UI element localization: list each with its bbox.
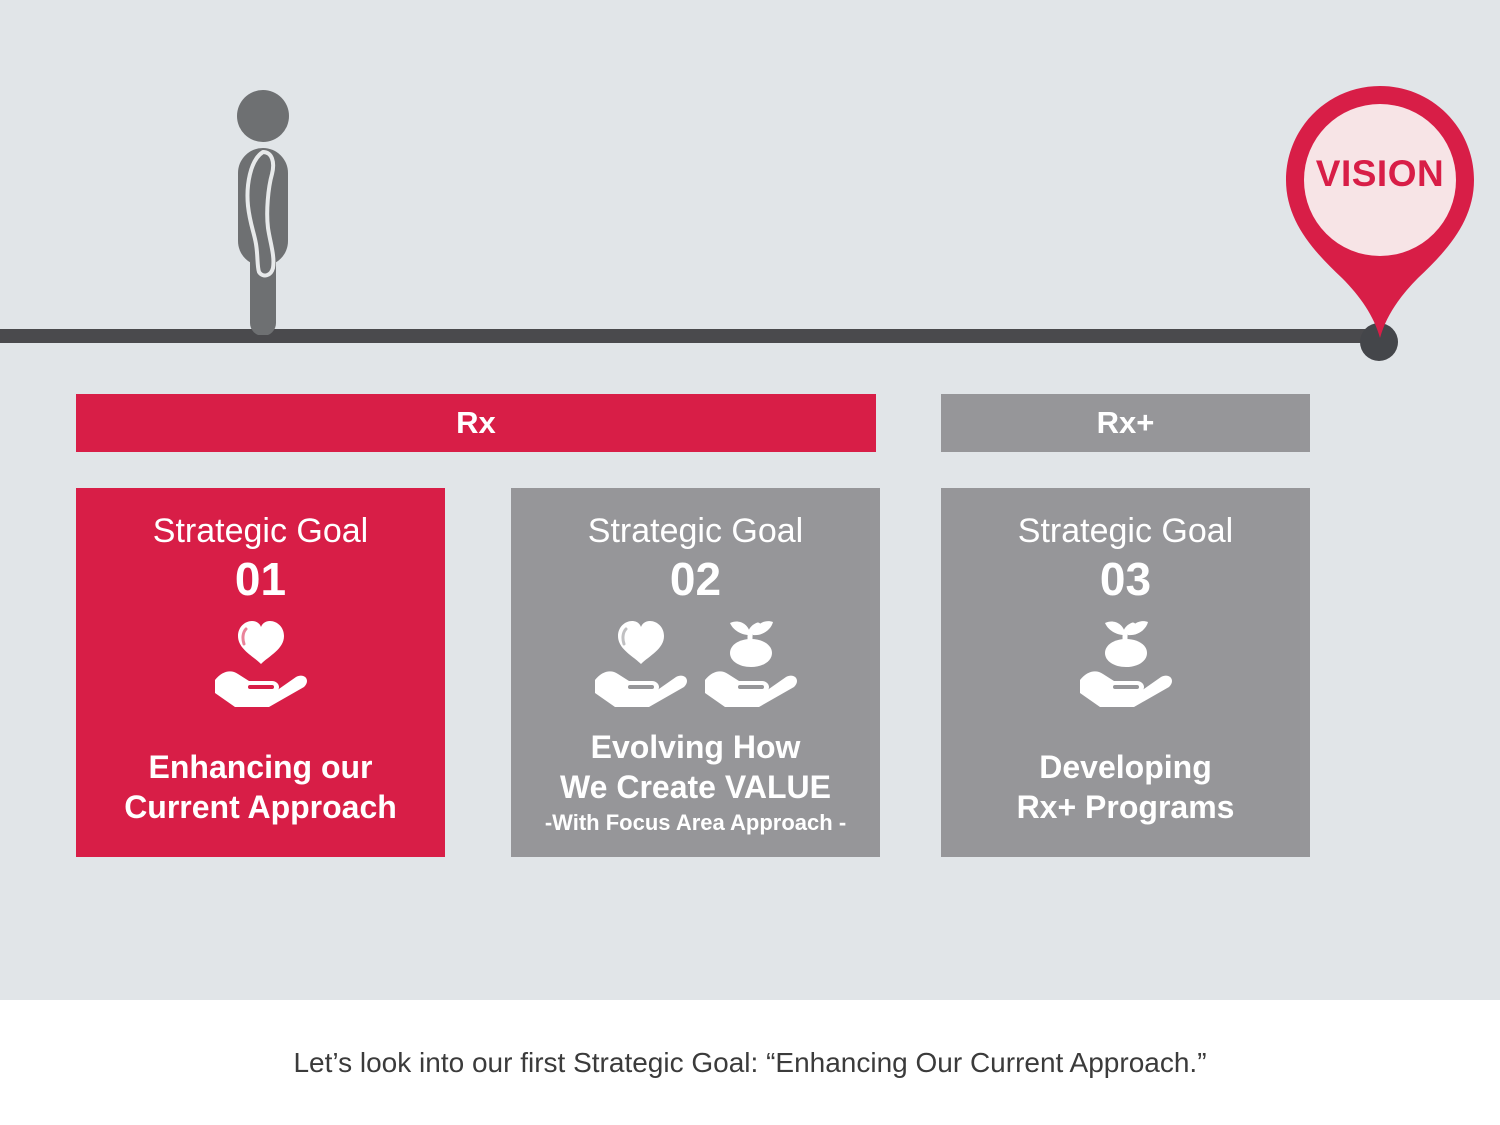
slide-canvas: VISION Rx Rx+ Strategic Goal 01 Enhancin… (0, 0, 1500, 1000)
slide-caption: Let’s look into our first Strategic Goal… (0, 1000, 1500, 1125)
person-standing-icon (232, 90, 296, 335)
hand-holding-heart-icon (593, 617, 689, 714)
card-subtitle: -With Focus Area Approach - (511, 809, 880, 837)
hand-holding-heart-icon (213, 617, 309, 714)
card-eyebrow: Strategic Goal (941, 510, 1310, 552)
vision-label: VISION (1282, 152, 1478, 196)
journey-timeline (0, 329, 1385, 343)
map-pin-icon (1282, 82, 1478, 344)
card-number: 02 (511, 553, 880, 605)
strategic-goal-card-03[interactable]: Strategic Goal 03 Developing Rx+ Program… (941, 488, 1310, 857)
card-number: 03 (941, 553, 1310, 605)
card-eyebrow: Strategic Goal (511, 510, 880, 552)
card-title: Developing Rx+ Programs (941, 747, 1310, 827)
card-title: Enhancing our Current Approach (76, 747, 445, 827)
banner-rx-plus[interactable]: Rx+ (941, 394, 1310, 452)
card-icon-group (511, 617, 880, 713)
card-eyebrow: Strategic Goal (76, 510, 445, 552)
card-icon-group (941, 617, 1310, 713)
card-title: Evolving How We Create VALUE (511, 727, 880, 807)
card-icon-group (76, 617, 445, 713)
card-number: 01 (76, 553, 445, 605)
strategic-goal-card-02[interactable]: Strategic Goal 02 (511, 488, 880, 857)
hand-holding-sprout-icon (1078, 617, 1174, 714)
strategic-goal-card-01[interactable]: Strategic Goal 01 Enhancing our Current … (76, 488, 445, 857)
banner-rx-label: Rx (456, 405, 496, 441)
banner-rx[interactable]: Rx (76, 394, 876, 452)
caption-text: Let’s look into our first Strategic Goal… (293, 1047, 1206, 1079)
hand-holding-sprout-icon (703, 617, 799, 714)
banner-rx-plus-label: Rx+ (1097, 405, 1155, 441)
